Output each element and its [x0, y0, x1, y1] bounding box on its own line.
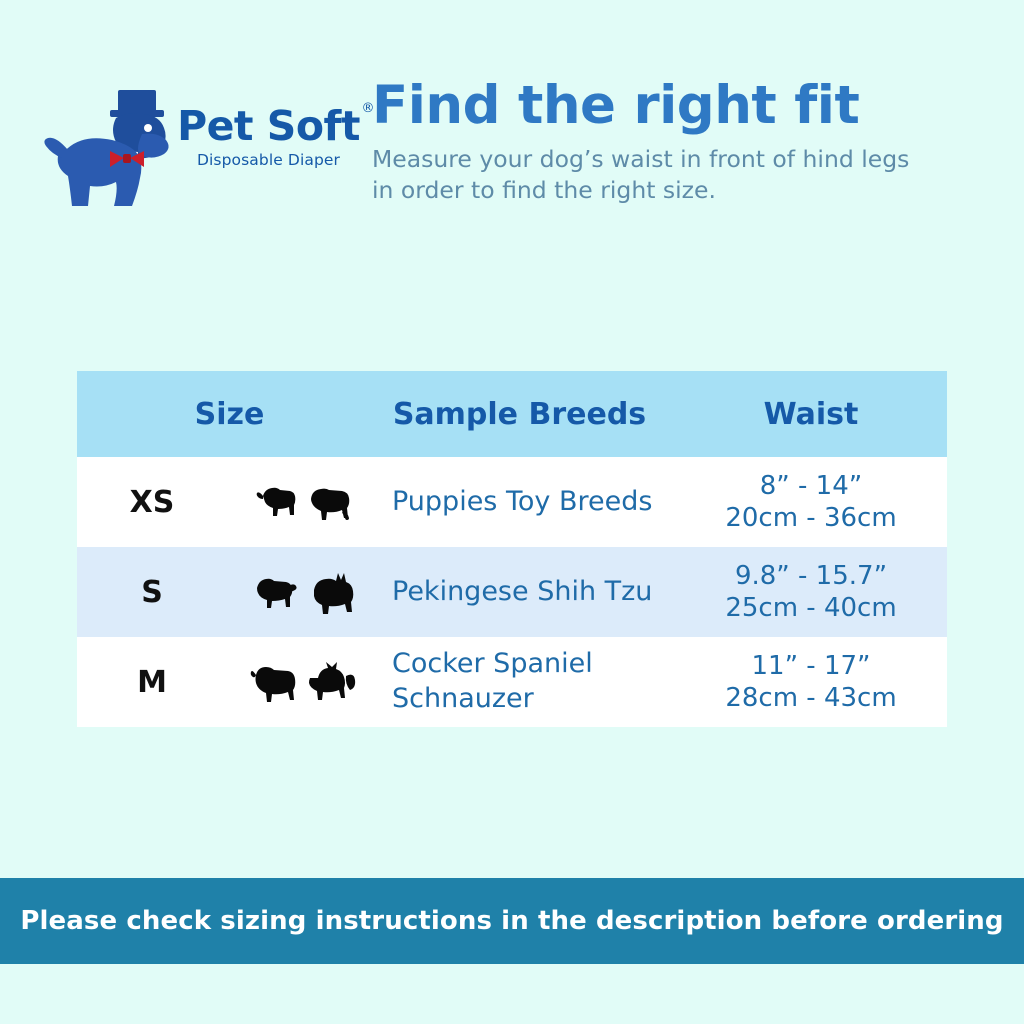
- column-header-sample-breeds: Sample Breeds: [382, 397, 675, 432]
- cell-waist: 9.8” - 15.7” 25cm - 40cm: [675, 560, 947, 625]
- brand-name-text: Pet Soft: [177, 102, 360, 150]
- cell-breeds: Cocker Spaniel Schnauzer: [382, 647, 675, 716]
- medium-retriever-dog-icon: [305, 481, 355, 523]
- breed-text-line-1: Cocker Spaniel: [392, 647, 675, 682]
- table-row: XS Puppies Toy Breeds 8” - 14” 20cm - 36…: [77, 457, 947, 547]
- breed-text: Pekingese Shih Tzu: [392, 575, 675, 610]
- cell-waist: 8” - 14” 20cm - 36cm: [675, 470, 947, 535]
- labrador-dog-icon: [250, 661, 302, 703]
- brand-wordmark: Pet Soft ® Disposable Diaper: [176, 106, 361, 169]
- waist-inches: 8” - 14”: [675, 470, 947, 503]
- title-block: Find the right fit Measure your dog’s wa…: [372, 78, 972, 206]
- cell-breed-icons: [227, 660, 382, 704]
- page-title: Find the right fit: [372, 78, 972, 134]
- page-subtitle: Measure your dog’s waist in front of hin…: [372, 144, 917, 206]
- small-wirehair-dog-icon: [252, 572, 300, 612]
- waist-centimeters: 25cm - 40cm: [675, 592, 947, 625]
- size-label: S: [141, 575, 163, 610]
- column-header-waist: Waist: [675, 397, 947, 432]
- page-header: Pet Soft ® Disposable Diaper Find the ri…: [0, 78, 1024, 228]
- cell-breed-icons: [227, 570, 382, 614]
- cell-waist: 11” - 17” 28cm - 43cm: [675, 650, 947, 715]
- table-row: M Cocker Spaniel Schnauzer 11” - 17” 28c…: [77, 637, 947, 727]
- schnauzer-dog-icon: [306, 570, 358, 614]
- brand-logo: Pet Soft ® Disposable Diaper: [38, 88, 358, 218]
- cell-size: M: [77, 665, 227, 700]
- waist-centimeters: 28cm - 43cm: [675, 682, 947, 715]
- size-label: XS: [130, 485, 175, 520]
- waist-inches: 9.8” - 15.7”: [675, 560, 947, 593]
- cell-size: XS: [77, 485, 227, 520]
- brand-name: Pet Soft ®: [177, 106, 360, 147]
- small-terrier-dog-icon: [255, 482, 299, 522]
- cell-size: S: [77, 575, 227, 610]
- pet-soft-dog-mascot-icon: [38, 88, 178, 208]
- waist-centimeters: 20cm - 36cm: [675, 502, 947, 535]
- table-row: S Pekingese Shih Tzu 9.8” - 15.7” 25cm -…: [77, 547, 947, 637]
- cell-breed-icons: [227, 481, 382, 523]
- footer-notice-banner: Please check sizing instructions in the …: [0, 878, 1024, 964]
- brand-tagline: Disposable Diaper: [176, 151, 361, 169]
- size-chart-table: Size Sample Breeds Waist XS Puppies Toy …: [77, 371, 947, 727]
- breed-text: Puppies Toy Breeds: [392, 485, 675, 520]
- size-label: M: [137, 665, 167, 700]
- cell-breeds: Pekingese Shih Tzu: [382, 575, 675, 610]
- footer-notice-text: Please check sizing instructions in the …: [20, 906, 1003, 936]
- column-header-size: Size: [77, 397, 382, 432]
- breed-text-line-2: Schnauzer: [392, 682, 675, 717]
- table-header-row: Size Sample Breeds Waist: [77, 371, 947, 457]
- cell-breeds: Puppies Toy Breeds: [382, 485, 675, 520]
- waist-inches: 11” - 17”: [675, 650, 947, 683]
- husky-dog-icon: [308, 660, 360, 704]
